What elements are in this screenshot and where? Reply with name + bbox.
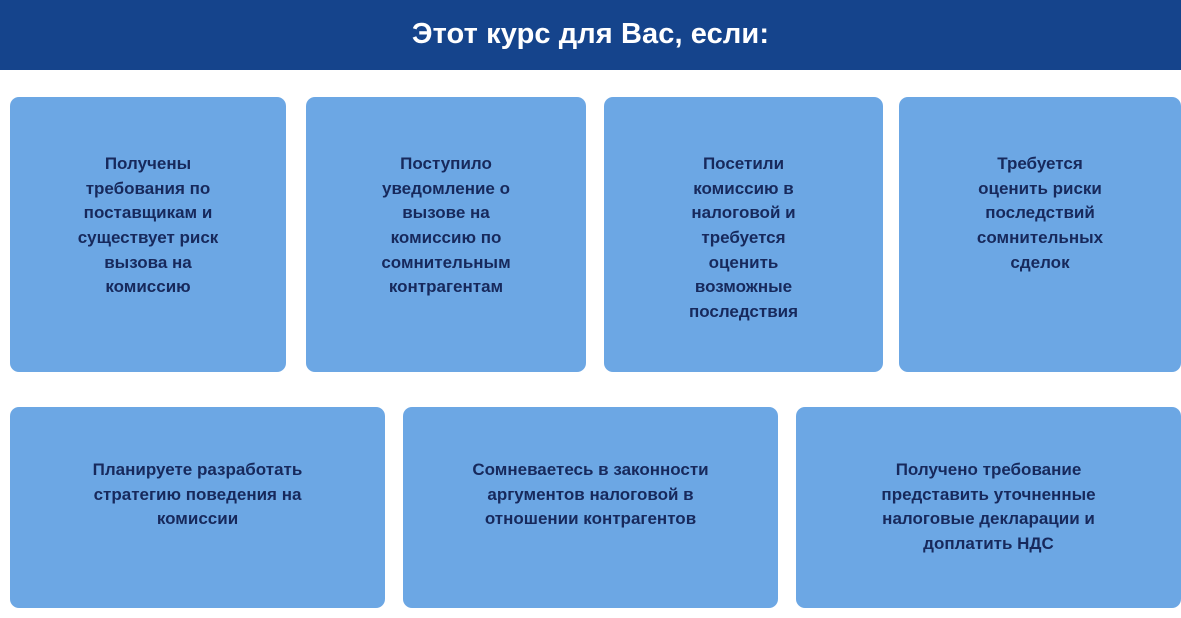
- condition-card-2[interactable]: Поступило уведомление о вызове на комисс…: [306, 97, 586, 372]
- condition-card-1-text: Получены требования по поставщикам и сущ…: [32, 152, 264, 300]
- condition-card-6[interactable]: Сомневаетесь в законности аргументов нал…: [403, 407, 778, 608]
- condition-card-5[interactable]: Планируете разработать стратегию поведен…: [10, 407, 385, 608]
- cards-area: Получены требования по поставщикам и сущ…: [0, 70, 1181, 618]
- condition-card-7-text: Получено требование представить уточненн…: [815, 458, 1162, 557]
- condition-card-1[interactable]: Получены требования по поставщикам и сущ…: [10, 97, 286, 372]
- condition-card-5-text: Планируете разработать стратегию поведен…: [29, 458, 367, 532]
- condition-card-2-text: Поступило уведомление о вызове на комисс…: [328, 152, 563, 300]
- condition-card-3[interactable]: Посетили комиссию в налоговой и требуетс…: [604, 97, 883, 372]
- header-banner: Этот курс для Вас, если:: [0, 0, 1181, 70]
- condition-card-4[interactable]: Требуется оценить риски последствий сомн…: [899, 97, 1181, 372]
- condition-card-3-text: Посетили комиссию в налоговой и требуетс…: [626, 152, 860, 324]
- condition-card-4-text: Требуется оценить риски последствий сомн…: [922, 152, 1159, 275]
- page-title: Этот курс для Вас, если:: [412, 19, 769, 51]
- condition-card-6-text: Сомневаетесь в законности аргументов нал…: [422, 458, 760, 532]
- condition-card-7[interactable]: Получено требование представить уточненн…: [796, 407, 1181, 608]
- slide-root: Этот курс для Вас, если: Получены требов…: [0, 0, 1181, 618]
